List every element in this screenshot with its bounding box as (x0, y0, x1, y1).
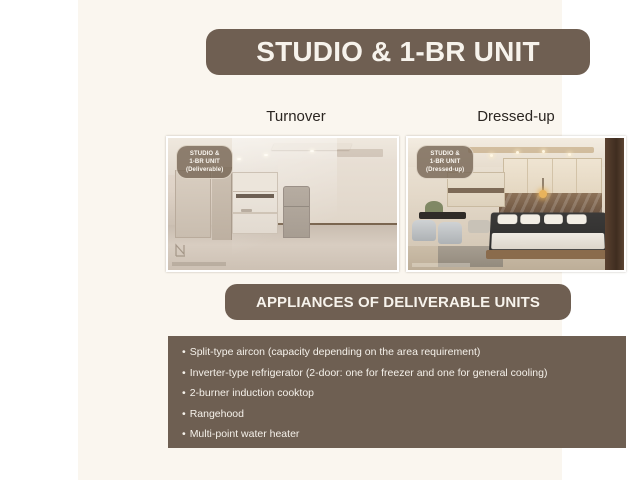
developer-brandmark (337, 149, 383, 157)
column-caption-dressed-up: Dressed-up (426, 108, 606, 125)
list-item: •2-burner induction cooktop (182, 388, 626, 399)
turnover-unit-photo: STUDIO & 1-BR UNIT (Deliverable) (166, 136, 399, 272)
column-caption-turnover: Turnover (206, 108, 386, 125)
appliances-list-panel: •Split-type aircon (capacity depending o… (168, 336, 626, 448)
pillow (521, 214, 541, 224)
cabinet-door (528, 159, 552, 194)
appliances-list: •Split-type aircon (capacity depending o… (182, 347, 626, 440)
countertop (233, 212, 277, 214)
list-item-label: Split-type aircon (capacity depending on… (190, 346, 481, 358)
dining-chair (438, 222, 462, 243)
dining-chair (412, 220, 436, 241)
overhead-cabinets (503, 158, 602, 195)
pillow (544, 214, 564, 224)
bed-headboard (499, 193, 603, 214)
appliances-heading: APPLIANCES OF DELIVERABLE UNITS (256, 294, 540, 311)
page-title: STUDIO & 1-BR UNIT (256, 38, 540, 66)
watermark-text (172, 262, 226, 266)
kitchen-backsplash (448, 188, 504, 193)
pillow (567, 214, 587, 224)
sink (241, 209, 252, 212)
headboard-marble-pattern (499, 193, 603, 214)
list-item: •Rangehood (182, 409, 626, 420)
bed-sheet (492, 233, 606, 249)
slide-root: STUDIO & 1-BR UNIT Turnover Dressed-up (0, 0, 640, 480)
upper-cabinet (233, 173, 277, 192)
cabinet-door (577, 159, 601, 194)
bullet-glyph: • (182, 428, 186, 440)
list-item: •Inverter-type refrigerator (2-door: one… (182, 368, 626, 379)
appliances-heading-pill: APPLIANCES OF DELIVERABLE UNITS (225, 284, 571, 320)
side-table (468, 220, 490, 233)
pendant-lamp (542, 178, 544, 194)
bullet-glyph: • (182, 408, 186, 420)
list-item-label: Multi-point water heater (190, 428, 300, 440)
dressed-up-unit-photo: STUDIO & 1-BR UNIT (Dressed-up) (406, 136, 626, 272)
bed (489, 212, 608, 251)
slide-canvas: STUDIO & 1-BR UNIT Turnover Dressed-up (78, 0, 562, 480)
list-item-label: Rangehood (190, 408, 244, 420)
list-item: •Multi-point water heater (182, 429, 626, 440)
downlight-icon (490, 154, 493, 157)
list-item: •Split-type aircon (capacity depending o… (182, 347, 626, 358)
list-item-label: Inverter-type refrigerator (2-door: one … (190, 367, 548, 379)
kitchenette-cabinet (232, 172, 278, 234)
bed-frame-base (486, 250, 609, 259)
bullet-glyph: • (182, 346, 186, 358)
bullet-glyph: • (182, 387, 186, 399)
pillow (497, 214, 517, 224)
downlight-icon (542, 150, 545, 153)
cabinet-shelf (236, 194, 275, 198)
photo-badge-dressed-up: STUDIO & 1-BR UNIT (Dressed-up) (416, 145, 474, 179)
photo-badge-deliverable: STUDIO & 1-BR UNIT (Deliverable) (176, 145, 233, 179)
list-item-label: 2-burner induction cooktop (190, 387, 314, 399)
bullet-glyph: • (182, 367, 186, 379)
cabinet-door (504, 159, 528, 194)
watermark-text (412, 263, 470, 267)
cabinet-door (553, 159, 577, 194)
downlight-icon (568, 153, 571, 156)
watermark-logo-icon (173, 242, 189, 258)
dining-table (419, 212, 467, 219)
entry-door (175, 170, 212, 239)
cove-lighting (468, 147, 593, 152)
refrigerator (283, 186, 310, 239)
slide-title-pill: STUDIO & 1-BR UNIT (206, 29, 590, 75)
wood-column (605, 138, 624, 270)
